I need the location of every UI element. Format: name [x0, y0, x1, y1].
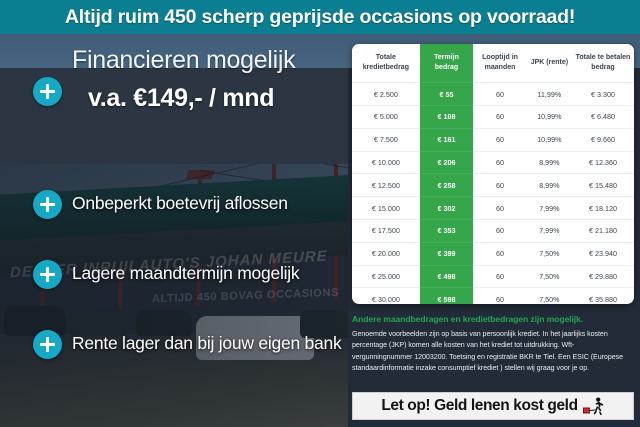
- table-cell-r9-c1: € 598: [420, 288, 474, 304]
- table-head: Totale kredietbedrag Termijn bedrag Loop…: [352, 44, 634, 83]
- table-cell-r5-c2: 60: [473, 197, 527, 220]
- bullet-item-1: Lagere maandtermijn mogelijk: [72, 263, 299, 284]
- table-row: € 10.000€ 206608,99%€ 12.360: [352, 151, 634, 174]
- table-cell-r3-c2: 60: [473, 151, 527, 174]
- table-cell-r2-c2: 60: [473, 128, 527, 151]
- table-cell-r9-c4: € 35.880: [572, 288, 634, 304]
- credit-warning-bar: Let op! Geld lenen kost geld: [352, 392, 634, 420]
- running-man-icon: [583, 397, 605, 416]
- table-cell-r5-c1: € 302: [420, 197, 474, 220]
- table-row: € 30.000€ 598607,50%€ 35.880: [352, 288, 634, 304]
- table-cell-r9-c0: € 30.000: [352, 288, 420, 304]
- table-cell-r7-c2: 60: [473, 242, 527, 265]
- table-cell-r8-c0: € 25.000: [352, 265, 420, 288]
- table-cell-r6-c0: € 17.500: [352, 219, 420, 242]
- col-header-3: JPK (rente): [527, 44, 572, 83]
- table-row: € 2.500€ 556011,99%€ 3.300: [352, 83, 634, 106]
- disclaimer-title: Andere maandbedragen en kredietbedragen …: [352, 314, 634, 324]
- bullet-item-0: Onbeperkt boetevrij aflossen: [72, 193, 288, 214]
- table-cell-r0-c4: € 3.300: [572, 83, 634, 106]
- table-cell-r5-c3: 7,99%: [527, 197, 572, 220]
- finance-advertisement: DEALER INRUILAUTO'S JOHAN MEURE ALTIJD 4…: [0, 0, 640, 427]
- table-cell-r4-c2: 60: [473, 174, 527, 197]
- table-header-row: Totale kredietbedrag Termijn bedrag Loop…: [352, 44, 634, 83]
- table-body: € 2.500€ 556011,99%€ 3.300€ 5.000€ 10860…: [352, 83, 634, 304]
- table-cell-r8-c1: € 498: [420, 265, 474, 288]
- table-cell-r9-c3: 7,50%: [527, 288, 572, 304]
- plus-circle-icon: [33, 77, 62, 106]
- headline-line-2: v.a. €149,- / mnd: [88, 84, 274, 113]
- table-cell-r3-c0: € 10.000: [352, 151, 420, 174]
- table-cell-r6-c1: € 353: [420, 219, 474, 242]
- col-header-1: Termijn bedrag: [420, 44, 474, 83]
- table-row: € 17.500€ 353607,99%€ 21.180: [352, 219, 634, 242]
- table-cell-r4-c0: € 12.500: [352, 174, 420, 197]
- table-cell-r1-c3: 10,99%: [527, 106, 572, 129]
- plus-circle-icon: [33, 330, 62, 359]
- table-cell-r7-c1: € 399: [420, 242, 474, 265]
- table-cell-r2-c3: 10,99%: [527, 128, 572, 151]
- banner-text: Altijd ruim 450 scherp geprijsde occasio…: [65, 6, 575, 29]
- table-cell-r0-c3: 11,99%: [527, 83, 572, 106]
- table-cell-r4-c3: 8,99%: [527, 174, 572, 197]
- table-cell-r6-c4: € 21.180: [572, 219, 634, 242]
- table-row: € 7.500€ 1616010,99%€ 9.660: [352, 128, 634, 151]
- table-cell-r8-c2: 60: [473, 265, 527, 288]
- table-cell-r3-c3: 8,99%: [527, 151, 572, 174]
- table-cell-r6-c3: 7,99%: [527, 219, 572, 242]
- table-cell-r1-c2: 60: [473, 106, 527, 129]
- table-row: € 15.000€ 302607,99%€ 18.120: [352, 197, 634, 220]
- table-cell-r3-c1: € 206: [420, 151, 474, 174]
- headline-line-1: Financieren mogelijk: [72, 46, 295, 75]
- table-cell-r4-c1: € 258: [420, 174, 474, 197]
- table-row: € 20.000€ 399607,50%€ 23.940: [352, 242, 634, 265]
- table-cell-r4-c4: € 15.480: [572, 174, 634, 197]
- top-banner: Altijd ruim 450 scherp geprijsde occasio…: [0, 0, 640, 34]
- table-cell-r7-c0: € 20.000: [352, 242, 420, 265]
- table-row: € 12.500€ 258608,99%€ 15.480: [352, 174, 634, 197]
- table-cell-r8-c3: 7,50%: [527, 265, 572, 288]
- finance-table: Totale kredietbedrag Termijn bedrag Loop…: [352, 44, 634, 304]
- table-cell-r1-c0: € 5.000: [352, 106, 420, 129]
- col-header-4: Totale te betalen bedrag: [572, 44, 634, 83]
- table-cell-r0-c1: € 55: [420, 83, 474, 106]
- table-cell-r5-c4: € 18.120: [572, 197, 634, 220]
- table-cell-r1-c4: € 6.480: [572, 106, 634, 129]
- table-cell-r2-c1: € 161: [420, 128, 474, 151]
- table-cell-r2-c4: € 9.660: [572, 128, 634, 151]
- finance-table-card: Totale kredietbedrag Termijn bedrag Loop…: [352, 44, 634, 304]
- warning-text: Let op! Geld lenen kost geld: [381, 397, 577, 415]
- table-cell-r1-c1: € 108: [420, 106, 474, 129]
- table-cell-r8-c4: € 29.880: [572, 265, 634, 288]
- bullet-item-2: Rente lager dan bij jouw eigen bank: [72, 333, 342, 354]
- table-cell-r3-c4: € 12.360: [572, 151, 634, 174]
- table-cell-r9-c2: 60: [473, 288, 527, 304]
- table-cell-r7-c4: € 23.940: [572, 242, 634, 265]
- disclaimer-block: Andere maandbedragen en kredietbedragen …: [352, 314, 634, 375]
- table-cell-r5-c0: € 15.000: [352, 197, 420, 220]
- disclaimer-body: Genoemde voorbeelden zijn op basis van p…: [352, 329, 634, 375]
- table-cell-r0-c0: € 2.500: [352, 83, 420, 106]
- table-cell-r0-c2: 60: [473, 83, 527, 106]
- table-cell-r2-c0: € 7.500: [352, 128, 420, 151]
- col-header-2: Looptijd in maanden: [473, 44, 527, 83]
- table-row: € 25.000€ 498607,50%€ 29.880: [352, 265, 634, 288]
- col-header-0: Totale kredietbedrag: [352, 44, 420, 83]
- table-cell-r6-c2: 60: [473, 219, 527, 242]
- table-row: € 5.000€ 1086010,99%€ 6.480: [352, 106, 634, 129]
- plus-circle-icon: [33, 190, 62, 219]
- table-cell-r7-c3: 7,50%: [527, 242, 572, 265]
- plus-circle-icon: [33, 260, 62, 289]
